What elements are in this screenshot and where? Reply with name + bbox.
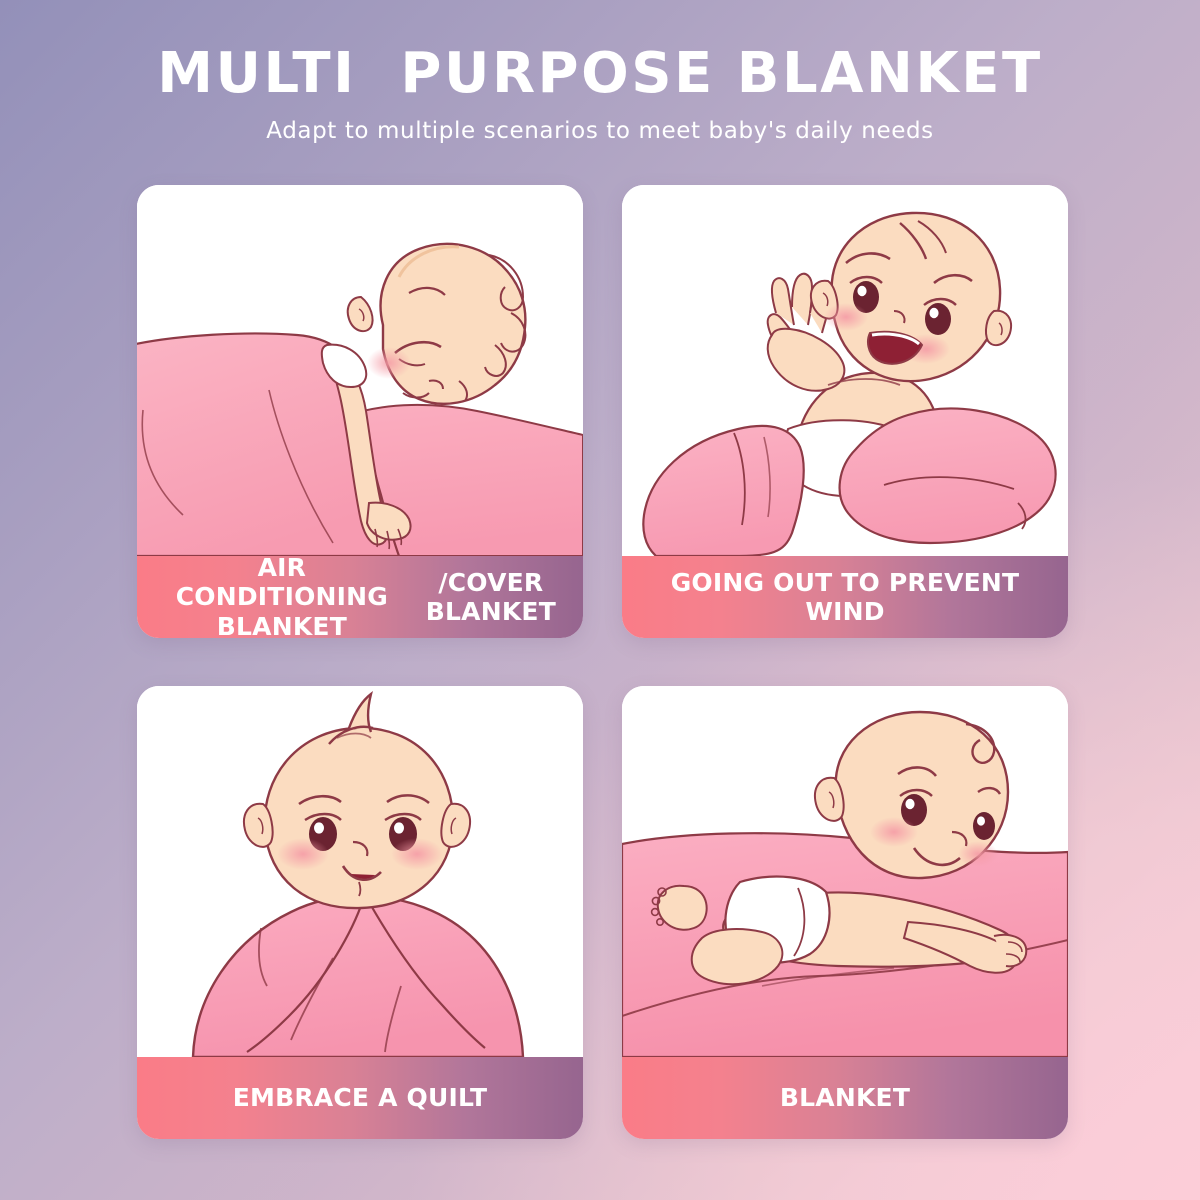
baby-lying-on-blanket-illustration	[622, 686, 1068, 1057]
feature-card-grid: AIR CONDITIONING BLANKET /COVER BLANKET	[137, 185, 1068, 1139]
card-blanket[interactable]: BLANKET	[622, 686, 1068, 1139]
page-title: MULTI PURPOSE BLANKET	[0, 0, 1200, 104]
card-air-conditioning-blanket[interactable]: AIR CONDITIONING BLANKET /COVER BLANKET	[137, 185, 583, 638]
card-caption: EMBRACE A QUILT	[137, 1057, 583, 1139]
card-caption: AIR CONDITIONING BLANKET /COVER BLANKET	[137, 556, 583, 638]
card-caption: BLANKET	[622, 1057, 1068, 1139]
card-going-out-to-prevent-wind[interactable]: GOING OUT TO PREVENT WIND	[622, 185, 1068, 638]
swaddled-baby-portrait-illustration	[137, 686, 583, 1057]
waving-baby-wrapped-in-blanket-illustration	[622, 185, 1068, 556]
page-subtitle: Adapt to multiple scenarios to meet baby…	[0, 104, 1200, 144]
card-caption-line-1: AIR CONDITIONING BLANKET	[151, 553, 413, 638]
card-embrace-a-quilt[interactable]: EMBRACE A QUILT	[137, 686, 583, 1139]
poster-root: MULTI PURPOSE BLANKET Adapt to multiple …	[0, 0, 1200, 1200]
sleeping-baby-on-blanket-illustration	[137, 185, 583, 556]
card-caption: GOING OUT TO PREVENT WIND	[622, 556, 1068, 638]
card-caption-line-2: /COVER BLANKET	[413, 568, 569, 627]
header: MULTI PURPOSE BLANKET Adapt to multiple …	[0, 0, 1200, 144]
